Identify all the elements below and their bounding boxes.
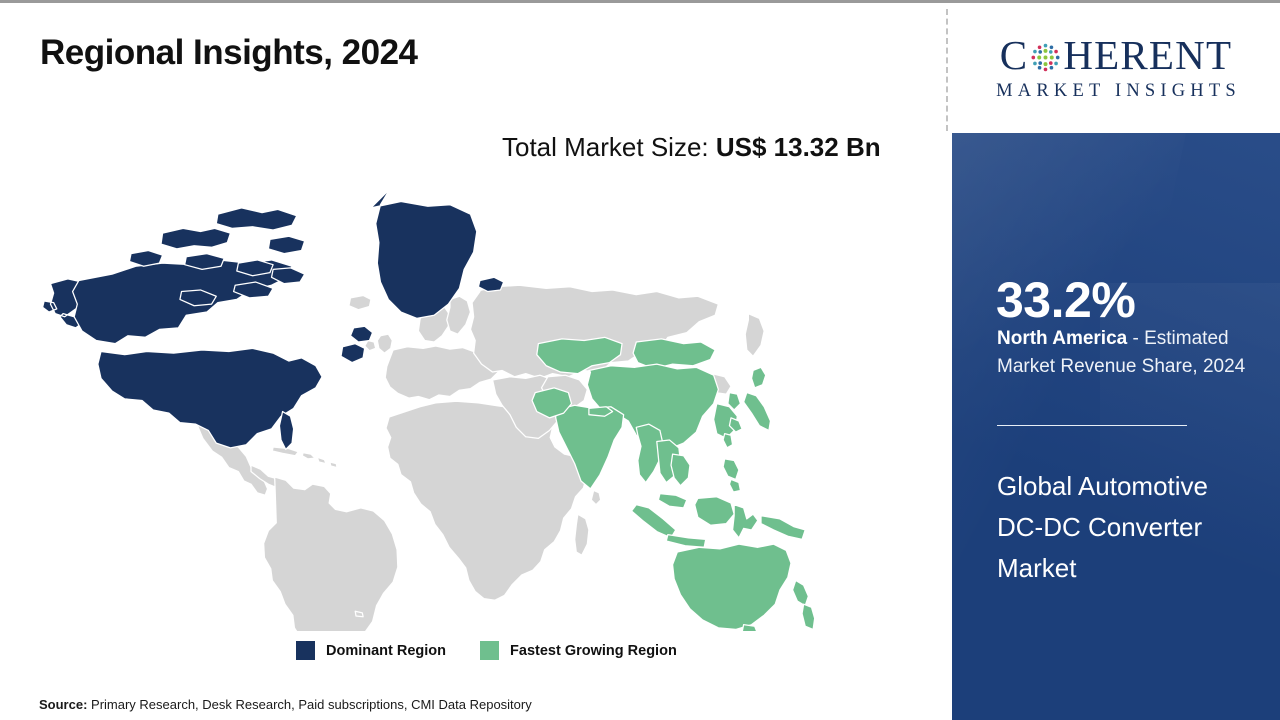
market-report-title: Global Automotive DC-DC Converter Market xyxy=(997,466,1259,589)
highlight-panel: 33.2% North America - Estimated Market R… xyxy=(952,133,1280,720)
source-text: Primary Research, Desk Research, Paid su… xyxy=(87,697,531,712)
world-map xyxy=(36,181,826,631)
logo-sphere-icon xyxy=(1029,40,1062,73)
vertical-dashed-divider xyxy=(946,9,948,131)
source-label: Source: xyxy=(39,697,87,712)
legend-item-fastest-growing: Fastest Growing Region xyxy=(480,641,677,660)
panel-divider-rule xyxy=(997,425,1187,426)
stat-region-name: North America xyxy=(997,328,1127,349)
market-size-label: Total Market Size: xyxy=(502,132,716,162)
infographic-root: Regional Insights, 2024 Total Market Siz… xyxy=(0,0,1280,720)
total-market-size: Total Market Size: US$ 13.32 Bn xyxy=(502,129,902,167)
left-content-pane: Regional Insights, 2024 Total Market Siz… xyxy=(0,3,946,720)
legend-item-dominant: Dominant Region xyxy=(296,641,446,660)
market-size-value: US$ 13.32 Bn xyxy=(716,132,881,162)
logo-word-herent: HERENT xyxy=(1063,35,1232,76)
legend-swatch-fastest-icon xyxy=(480,641,499,660)
source-note: Source: Primary Research, Desk Research,… xyxy=(39,697,532,712)
logo-wordmark: C xyxy=(1000,35,1232,76)
page-title: Regional Insights, 2024 xyxy=(40,33,418,73)
stat-percentage: 33.2% xyxy=(996,275,1135,325)
stat-description: North America - Estimated Market Revenue… xyxy=(997,325,1265,381)
world-map-svg xyxy=(36,181,826,631)
logo-letter-c: C xyxy=(1000,35,1029,76)
legend-label-fastest-growing: Fastest Growing Region xyxy=(510,643,677,659)
legend-label-dominant: Dominant Region xyxy=(326,643,446,659)
legend-swatch-dominant-icon xyxy=(296,641,315,660)
logo-subtitle: MARKET INSIGHTS xyxy=(991,81,1241,102)
brand-logo: C xyxy=(952,6,1280,130)
map-legend: Dominant Region Fastest Growing Region xyxy=(296,641,677,660)
